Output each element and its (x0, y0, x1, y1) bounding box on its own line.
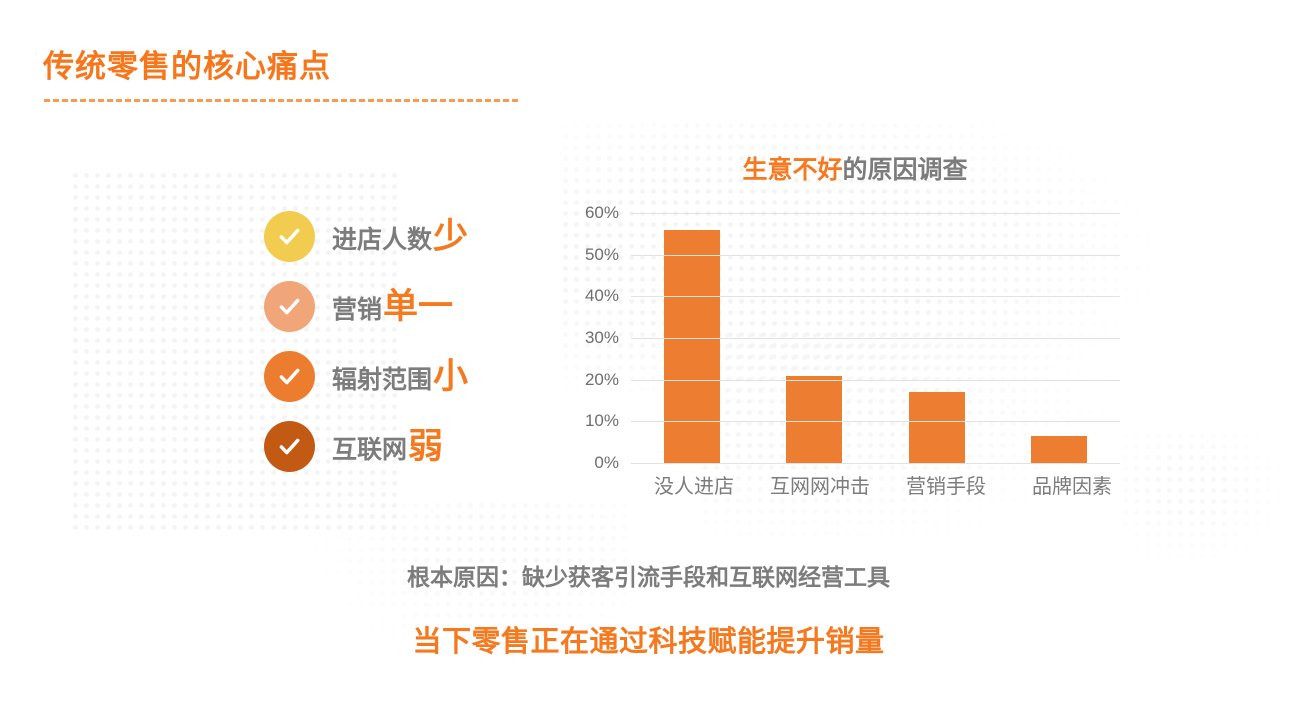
gridline (631, 380, 1120, 381)
call-to-action: 当下零售正在通过科技赋能提升销量 (0, 618, 1297, 660)
y-axis-tick: 60% (585, 203, 619, 223)
list-item-accent: 单一 (383, 289, 453, 324)
y-axis-tick: 30% (585, 328, 619, 348)
bar[interactable] (1031, 436, 1087, 463)
x-axis-label: 品牌因素 (1009, 470, 1135, 499)
chart-title-highlight: 生意不好 (742, 156, 842, 184)
gridline (631, 296, 1120, 297)
list-item-text: 营销 (332, 298, 382, 323)
plot-area (631, 213, 1120, 463)
check-icon (264, 351, 315, 402)
list-item: 辐射范围小 (264, 341, 468, 411)
list-item-label: 互联网弱 (332, 429, 443, 464)
y-axis-tick: 10% (585, 411, 619, 431)
pain-point-list: 进店人数少 营销单一 辐射范围小 互联网弱 (264, 201, 468, 481)
y-axis-tick: 50% (585, 245, 619, 265)
y-axis-tick: 40% (585, 286, 619, 306)
y-axis-tick: 20% (585, 370, 619, 390)
check-icon (264, 421, 315, 472)
x-axis-label: 没人进店 (631, 470, 757, 499)
list-item-accent: 少 (433, 219, 468, 254)
gridline (631, 255, 1120, 256)
y-axis-tick: 0% (594, 453, 619, 473)
check-icon (264, 281, 315, 332)
y-axis: 0%10%20%30%40%50%60% (575, 213, 627, 463)
list-item: 互联网弱 (264, 411, 468, 481)
list-item-label: 辐射范围小 (332, 359, 468, 394)
root-cause-note: 根本原因：缺少获客引流手段和互联网经营工具 (0, 558, 1297, 592)
x-axis-label: 营销手段 (883, 470, 1009, 499)
x-axis-label: 互网网冲击 (757, 470, 883, 499)
chart-plot: 0%10%20%30%40%50%60% (575, 213, 1120, 463)
gridline (631, 421, 1120, 422)
gridline (631, 338, 1120, 339)
dot-pattern-background (1120, 430, 1290, 570)
x-axis: 没人进店互网网冲击营销手段品牌因素 (631, 470, 1135, 499)
check-icon (264, 211, 315, 262)
list-item-text: 进店人数 (332, 228, 432, 253)
title-divider (44, 99, 518, 102)
list-item-label: 营销单一 (332, 289, 453, 324)
list-item-accent: 小 (433, 359, 468, 394)
list-item-text: 互联网 (332, 438, 407, 463)
list-item-label: 进店人数少 (332, 219, 468, 254)
bar-chart: 生意不好的原因调查 0%10%20%30%40%50%60% 没人进店互网网冲击… (575, 150, 1135, 510)
gridline (631, 213, 1120, 214)
bar[interactable] (909, 392, 965, 463)
list-item-text: 辐射范围 (332, 368, 432, 393)
chart-title-rest: 的原因调查 (843, 156, 968, 184)
bar[interactable] (664, 230, 720, 463)
list-item: 进店人数少 (264, 201, 468, 271)
list-item: 营销单一 (264, 271, 468, 341)
gridline (631, 463, 1120, 464)
page-title: 传统零售的核心痛点 (43, 41, 331, 86)
chart-title: 生意不好的原因调查 (575, 150, 1135, 186)
list-item-accent: 弱 (408, 429, 443, 464)
bar[interactable] (786, 376, 842, 464)
